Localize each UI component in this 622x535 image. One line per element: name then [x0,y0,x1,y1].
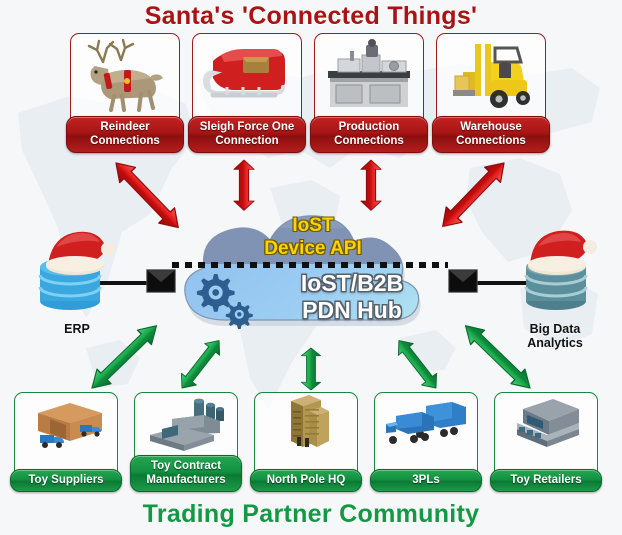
node-3pls[interactable]: 3PLs [374,392,478,484]
node-sleigh[interactable]: Sleigh Force One Connection [192,33,302,145]
node-reindeer-label-line1: Reindeer [100,121,149,133]
node-toy-contract-manufacturers-label: Toy Contract Manufacturers [130,455,242,492]
node-production-label-line2: Connections [334,135,404,147]
node-erp-label-line1: ERP [64,322,90,336]
node-3pls-label-line1: 3PLs [412,474,440,486]
node-north-pole-hq-label-line1: North Pole HQ [267,474,346,486]
cloud-shape [148,208,478,356]
database-icon [500,225,610,317]
node-sleigh-label-line1: Sleigh Force One [200,121,295,133]
node-toy-retailers[interactable]: Toy Retailers [494,392,598,484]
office-tower-icon [255,395,357,453]
page-title-bottom: Trading Partner Community [0,500,622,529]
node-warehouse-label: Warehouse Connections [432,116,550,153]
factory-icon [135,395,237,453]
node-reindeer[interactable]: Reindeer Connections [70,33,180,145]
node-toy-contract-mfg-label-line2: Manufacturers [146,474,225,486]
node-toy-contract-mfg-label-line1: Toy Contract [151,460,221,472]
node-erp[interactable]: ERP [22,225,132,336]
sleigh-icon [193,36,301,114]
node-reindeer-label: Reindeer Connections [66,116,184,153]
envelope-connector-icon-right[interactable] [448,269,478,298]
node-sleigh-label: Sleigh Force One Connection [188,116,306,153]
node-toy-suppliers-label-line1: Toy Suppliers [28,474,103,486]
santa-hat-icon [46,232,115,275]
node-toy-retailers-label-line1: Toy Retailers [510,474,581,486]
node-toy-contract-manufacturers[interactable]: Toy Contract Manufacturers [134,392,238,484]
reindeer-icon [71,36,179,114]
envelope-connector-icon-left[interactable] [146,269,176,298]
node-production[interactable]: Production Connections [314,33,424,145]
forklift-icon [437,36,545,114]
page-title-top: Santa's 'Connected Things' [0,2,622,31]
node-production-label: Production Connections [310,116,428,153]
node-erp-label: ERP [22,322,132,336]
trucks-icon [375,395,477,453]
node-big-data-analytics-label: Big Data Analytics [500,322,610,350]
machine-icon [315,36,423,114]
retail-building-icon [495,395,597,453]
node-warehouse-label-line2: Connections [456,135,526,147]
iost-b2b-pdn-hub-cloud[interactable]: IoST Device API IoST/B2B PDN Hub [148,208,478,356]
node-north-pole-hq[interactable]: North Pole HQ [254,392,358,484]
node-big-data-label-line1: Big Data [530,322,581,336]
node-reindeer-label-line2: Connections [90,135,160,147]
node-toy-suppliers-label: Toy Suppliers [10,469,122,493]
node-sleigh-label-line2: Connection [215,135,278,147]
santa-hat-icon [528,231,597,275]
warehouse-boxes-icon [15,395,117,453]
node-big-data-analytics[interactable]: Big Data Analytics [500,225,610,350]
node-big-data-label-line2: Analytics [527,336,583,350]
diagram-canvas: Santa's 'Connected Things' [0,0,622,535]
node-north-pole-hq-label: North Pole HQ [250,469,362,493]
node-3pls-label: 3PLs [370,469,482,493]
database-icon [22,225,132,317]
node-toy-retailers-label: Toy Retailers [490,469,602,493]
node-production-label-line1: Production [339,121,400,133]
node-warehouse-label-line1: Warehouse [460,121,522,133]
node-warehouse[interactable]: Warehouse Connections [436,33,546,145]
node-toy-suppliers[interactable]: Toy Suppliers [14,392,118,484]
